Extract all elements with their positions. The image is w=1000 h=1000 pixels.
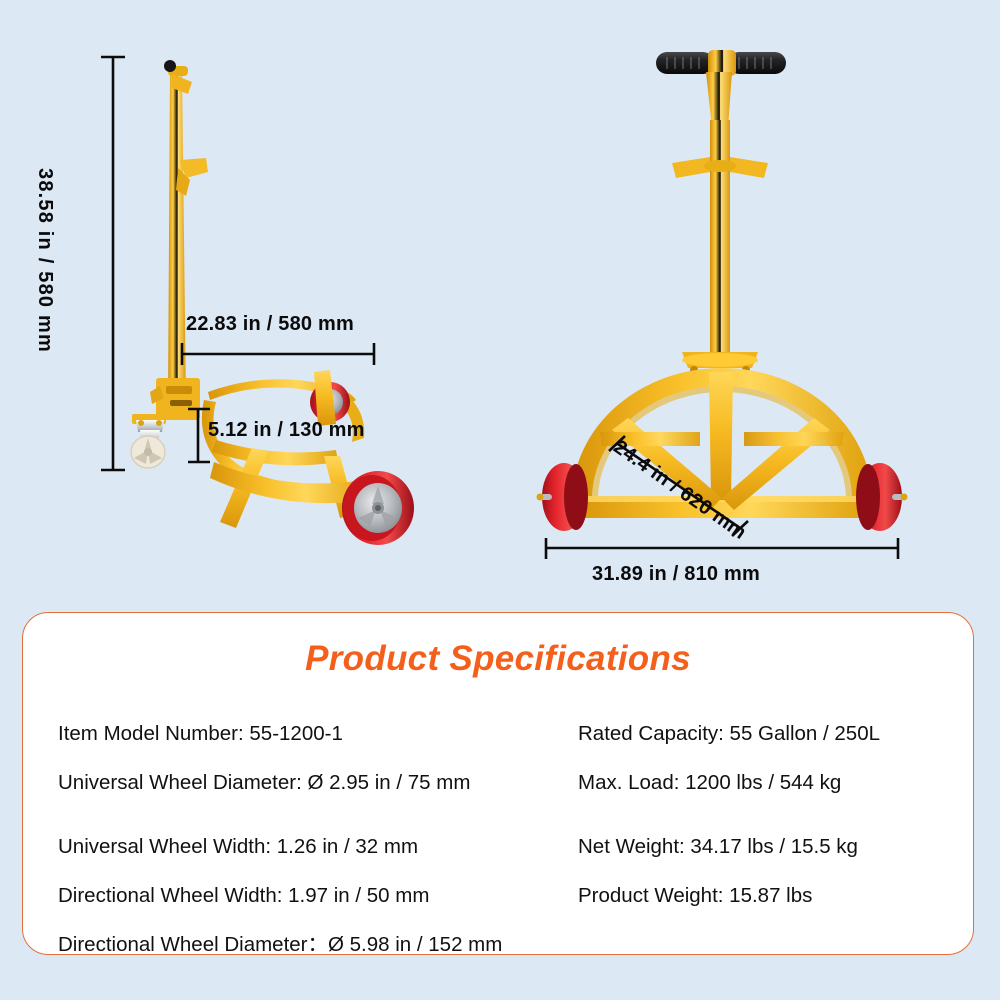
spec-universal-wheel-diameter: Universal Wheel Diameter: Ø 2.95 in / 75… [58,758,568,807]
spec-columns: Item Model Number: 55-1200-1 Universal W… [23,709,973,969]
product-figures: 38.58 in / 580 mm 22.83 in / 580 mm 5.12… [0,0,1000,612]
spec-product-weight: Product Weight: 15.87 lbs [578,871,973,920]
product-illustration [0,0,1000,612]
spec-rated-capacity: Rated Capacity: 55 Gallon / 250L [578,709,973,758]
product-spec-image: 38.58 in / 580 mm 22.83 in / 580 mm 5.12… [0,0,1000,1000]
dimension-label-ground-clearance: 5.12 in / 130 mm [208,419,365,442]
spec-net-weight: Net Weight: 34.17 lbs / 15.5 kg [578,822,973,871]
dimension-lines [101,57,898,559]
side-view-group [131,60,414,545]
dimension-label-handle-offset-width: 22.83 in / 580 mm [186,313,354,336]
spec-column-left: Item Model Number: 55-1200-1 Universal W… [23,709,568,969]
directional-wheel-left [537,463,589,531]
product-specifications-panel: Product Specifications Item Model Number… [22,612,974,955]
directional-wheel-right [856,463,908,531]
universal-caster [131,414,166,468]
spec-directional-wheel-diameter: Directional Wheel Diameter：Ø 5.98 in / 1… [58,920,568,969]
spec-item-model-number: Item Model Number: 55-1200-1 [58,709,568,758]
spec-max-load: Max. Load: 1200 lbs / 544 kg [578,758,973,807]
spec-column-right: Rated Capacity: 55 Gallon / 250L Max. Lo… [568,709,973,969]
page-title: Product Specifications [23,639,973,679]
spec-directional-wheel-width: Directional Wheel Width: 1.97 in / 50 mm [58,871,568,920]
front-view-group [537,50,908,531]
dimension-label-overall-height: 38.58 in / 580 mm [33,168,56,353]
directional-wheel-front [342,471,414,545]
dimension-label-overall-base-width: 31.89 in / 810 mm [592,563,760,586]
spec-universal-wheel-width: Universal Wheel Width: 1.26 in / 32 mm [58,822,568,871]
